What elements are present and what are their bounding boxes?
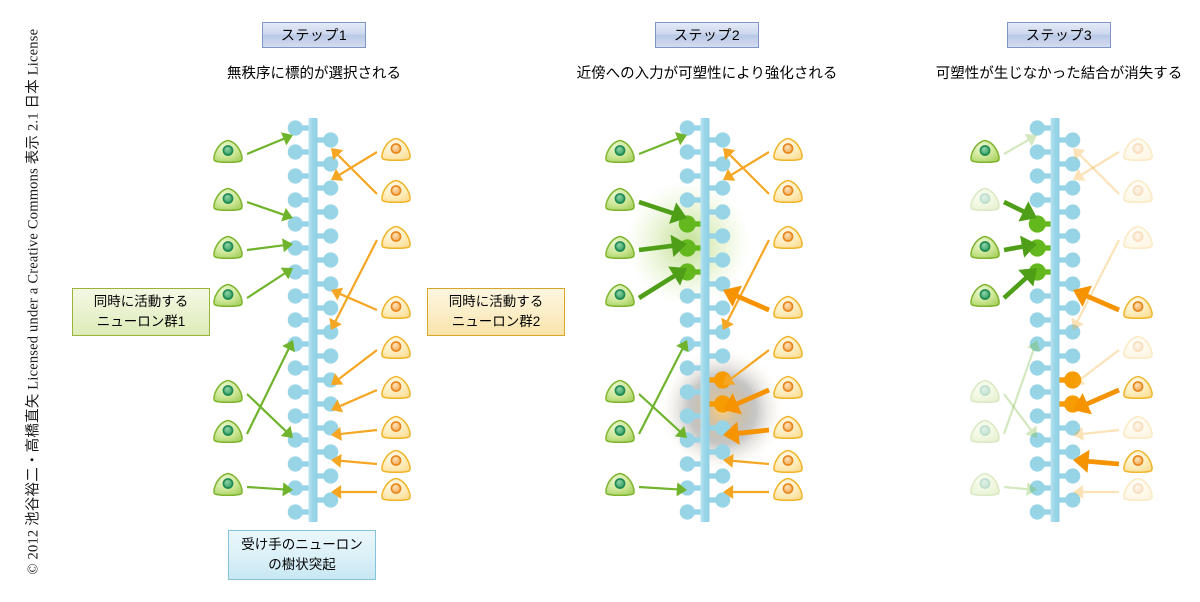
neuron-nucleus: [1133, 302, 1142, 311]
neuron-nucleus: [1133, 422, 1142, 431]
spine-head: [288, 288, 303, 303]
spine-head: [1030, 312, 1045, 327]
spine-head: [288, 192, 303, 207]
neuron-cell-icon: [606, 420, 634, 442]
dendritic-spine-icon: [318, 132, 339, 147]
neuron-cell-icon: [1124, 226, 1152, 248]
spine-head: [323, 204, 338, 219]
neuron-nucleus: [1133, 484, 1142, 493]
dendritic-spine-icon: [1060, 204, 1081, 219]
neuron-cell-icon: [1124, 416, 1152, 438]
spine-head: [680, 408, 695, 423]
spine-head: [288, 504, 303, 519]
arrow-shaft: [247, 348, 289, 434]
spine-head: [680, 288, 695, 303]
dendritic-spine-icon: [680, 120, 701, 135]
arrow-shaft: [1004, 246, 1023, 250]
arrow-shaft: [340, 461, 377, 464]
dendritic-spine-icon: [288, 312, 309, 327]
neuron-nucleus: [615, 386, 624, 395]
arrow-shaft: [1004, 277, 1027, 298]
panel-panel3: [971, 118, 1152, 522]
dendritic-spine-icon: [1060, 348, 1081, 363]
green-synapse-arrow: [247, 268, 293, 298]
dendrite-shaft: [1051, 118, 1060, 522]
dendrite-shaft: [309, 118, 318, 522]
neuron-nucleus: [1133, 382, 1142, 391]
orange-synapse-arrow: [331, 390, 377, 412]
arrow-shaft: [337, 154, 377, 194]
spine-head: [715, 204, 730, 219]
neuron-nucleus: [223, 290, 232, 299]
neuron-cell-icon: [971, 380, 999, 402]
spine-head: [1030, 288, 1045, 303]
spine-head: [1030, 384, 1045, 399]
arrow-shaft: [339, 152, 377, 175]
spine-head: [323, 468, 338, 483]
arrow-shaft: [1004, 202, 1024, 212]
neuron-cell-icon: [1124, 138, 1152, 160]
dendritic-spine-icon: [680, 504, 701, 519]
dendritic-spine-icon: [318, 252, 339, 267]
spine-head: [1065, 180, 1080, 195]
neuron-cell-icon: [971, 188, 999, 210]
dendritic-spine-icon: [288, 360, 309, 375]
neuron-nucleus: [391, 382, 400, 391]
spine-head: [288, 144, 303, 159]
arrow-shaft: [1081, 152, 1119, 175]
dendritic-spine-icon: [710, 300, 731, 315]
spine-head: [323, 252, 338, 267]
neuron-nucleus: [1133, 342, 1142, 351]
green-synapse-arrow: [639, 482, 687, 496]
spine-head: [1065, 300, 1080, 315]
neuron-nucleus: [391, 484, 400, 493]
dendritic-spine-icon: [1030, 120, 1051, 135]
neuron-nucleus: [783, 484, 792, 493]
arrow-shaft: [1004, 487, 1028, 489]
spine-head: [288, 312, 303, 327]
dendritic-spine-icon: [1030, 168, 1051, 183]
neuron-nucleus: [783, 302, 792, 311]
spine-head: [715, 180, 730, 195]
neuron-cell-icon: [774, 296, 802, 318]
spine-head: [1030, 168, 1045, 183]
dendritic-spine-icon: [1030, 288, 1051, 303]
neuron-cell-icon: [606, 284, 634, 306]
neuron-nucleus: [223, 242, 232, 251]
spine-head: [680, 456, 695, 471]
dendritic-spine-icon: [1030, 408, 1051, 423]
spine-head: [323, 180, 338, 195]
neuron-nucleus: [783, 186, 792, 195]
neuron-nucleus: [391, 342, 400, 351]
neuron-cell-icon: [214, 380, 242, 402]
spine-head: [288, 384, 303, 399]
neuron-nucleus: [783, 342, 792, 351]
neuron-nucleus: [615, 426, 624, 435]
neuron-cell-icon: [382, 376, 410, 398]
neuron-cell-icon: [214, 140, 242, 162]
spine-head: [1065, 348, 1080, 363]
dendritic-spine-icon: [1060, 444, 1081, 459]
spine-head: [680, 384, 695, 399]
neuron-nucleus: [615, 242, 624, 251]
arrow-shaft: [338, 350, 377, 380]
dendritic-spine-icon: [318, 444, 339, 459]
neuron-nucleus: [980, 426, 989, 435]
neuron-nucleus: [1133, 232, 1142, 241]
arrow-shaft: [1079, 154, 1119, 194]
dendritic-spine-icon: [288, 216, 309, 231]
orange-synapse-arrow: [1073, 427, 1119, 441]
arrow-shaft: [1004, 348, 1034, 434]
arrow-shaft: [335, 240, 377, 322]
spine-head: [680, 192, 695, 207]
arrow-shaft: [247, 273, 286, 298]
arrow-shaft: [737, 430, 769, 433]
dendritic-spine-icon: [318, 204, 339, 219]
spine-head: [1030, 360, 1045, 375]
dendritic-spine-icon: [288, 480, 309, 495]
spine-head: [715, 132, 730, 147]
dendritic-spine-icon: [680, 168, 701, 183]
dendritic-spine-icon: [288, 144, 309, 159]
neuron-cell-icon: [774, 450, 802, 472]
dendritic-spine-icon: [1060, 468, 1081, 483]
neuron-nucleus: [1133, 456, 1142, 465]
neuron-nucleus: [223, 386, 232, 395]
spine-head: [1030, 144, 1045, 159]
dendritic-spine-icon: [318, 228, 339, 243]
arrow-shaft: [1082, 430, 1119, 434]
neuron-cell-icon: [774, 376, 802, 398]
spine-head: [288, 456, 303, 471]
neuron-cell-icon: [382, 138, 410, 160]
neuron-nucleus: [391, 144, 400, 153]
neuron-cell-icon: [971, 473, 999, 495]
dendritic-spine-icon: [1060, 132, 1081, 147]
neuron-cell-icon: [774, 180, 802, 202]
arrow-shaft: [1086, 296, 1119, 310]
spine-head: [680, 312, 695, 327]
arrow-shaft: [247, 202, 285, 215]
neuron-cell-icon: [1124, 450, 1152, 472]
neuron-nucleus: [783, 422, 792, 431]
arrow-shaft: [1080, 350, 1119, 380]
dendritic-spine-icon: [1060, 156, 1081, 171]
neuron-nucleus: [223, 426, 232, 435]
spine-head: [1065, 204, 1080, 219]
neuron-nucleus: [615, 146, 624, 155]
arrow-shaft: [247, 394, 287, 432]
neuron-nucleus: [615, 290, 624, 299]
arrow-shaft: [639, 487, 678, 489]
spine-head: [715, 300, 730, 315]
dendritic-spine-icon: [318, 300, 339, 315]
spine-head: [1030, 504, 1045, 519]
neuron-cell-icon: [382, 416, 410, 438]
spine-head: [1065, 228, 1080, 243]
neuron-cell-icon: [382, 336, 410, 358]
green-synapse-arrow: [247, 482, 293, 496]
neuron-cell-icon: [971, 236, 999, 258]
spine-head: [680, 504, 695, 519]
neuron-cell-icon: [774, 138, 802, 160]
neuron-cell-icon: [971, 284, 999, 306]
arrow-shaft: [1086, 390, 1119, 404]
neuron-nucleus: [391, 456, 400, 465]
neuron-cell-icon: [382, 450, 410, 472]
neuron-cell-icon: [774, 478, 802, 500]
neuron-cell-icon: [214, 188, 242, 210]
spine-head: [680, 360, 695, 375]
dendritic-spine-icon: [1060, 180, 1081, 195]
neuron-nucleus: [615, 194, 624, 203]
arrow-shaft: [729, 154, 769, 194]
orange-synapse-arrow: [331, 485, 377, 499]
neuron-cell-icon: [971, 420, 999, 442]
arrow-shaft: [736, 296, 769, 310]
dendritic-spine-icon: [1030, 384, 1051, 399]
spine-head: [680, 144, 695, 159]
neuron-nucleus: [223, 146, 232, 155]
dendritic-spine-icon: [318, 348, 339, 363]
neuron-cell-icon: [214, 420, 242, 442]
neuron-nucleus: [980, 290, 989, 299]
dendritic-spine-icon: [288, 384, 309, 399]
neuron-nucleus: [980, 194, 989, 203]
dendritic-spine-icon: [1030, 360, 1051, 375]
neuron-cell-icon: [214, 236, 242, 258]
neuron-cell-icon: [1124, 180, 1152, 202]
spine-head: [1065, 252, 1080, 267]
dendritic-spine-icon: [288, 456, 309, 471]
neuron-nucleus: [1133, 144, 1142, 153]
dendritic-spine-icon: [318, 468, 339, 483]
green-synapse-arrow: [247, 394, 293, 438]
orange-synapse-arrow: [331, 454, 377, 468]
orange-synapse-arrow: [1073, 485, 1119, 499]
neuron-nucleus: [980, 479, 989, 488]
neuron-cell-icon: [606, 188, 634, 210]
panel-panel1: [214, 118, 410, 522]
neuron-cell-icon: [382, 226, 410, 248]
green-synapse-arrow: [247, 132, 293, 154]
dendritic-spine-icon: [1030, 456, 1051, 471]
spine-head: [1065, 468, 1080, 483]
neuron-cell-icon: [971, 140, 999, 162]
neuron-nucleus: [391, 186, 400, 195]
dendritic-spine-icon: [1060, 228, 1081, 243]
neuron-cell-icon: [774, 226, 802, 248]
dendritic-spine-icon: [318, 156, 339, 171]
dendritic-spine-icon: [318, 180, 339, 195]
spine-head: [680, 168, 695, 183]
green-synapse-arrow: [247, 202, 293, 221]
dendritic-spine-icon: [288, 192, 309, 207]
spine-head: [323, 348, 338, 363]
arrow-shaft: [1004, 139, 1029, 154]
dendritic-spine-icon: [1030, 312, 1051, 327]
neuron-nucleus: [223, 479, 232, 488]
dendritic-spine-icon: [288, 504, 309, 519]
orange-synapse-arrow: [723, 485, 769, 499]
spine-head: [288, 168, 303, 183]
neuron-cell-icon: [1124, 478, 1152, 500]
spine-head: [323, 132, 338, 147]
dendritic-spine-icon: [710, 132, 731, 147]
neuron-nucleus: [783, 144, 792, 153]
neuron-cell-icon: [1124, 296, 1152, 318]
spine-head: [715, 468, 730, 483]
neuron-nucleus: [223, 194, 232, 203]
spine-head: [1030, 408, 1045, 423]
orange-synapse-arrow: [1073, 390, 1119, 414]
neuron-diagram-svg: [0, 0, 1200, 602]
neuron-nucleus: [615, 479, 624, 488]
dendritic-spine-icon: [288, 240, 309, 255]
arrow-shaft: [340, 430, 377, 434]
spine-head: [1030, 456, 1045, 471]
spine-head: [715, 252, 730, 267]
arrow-shaft: [731, 152, 769, 175]
dendritic-spine-icon: [1060, 252, 1081, 267]
dendritic-spine-icon: [288, 168, 309, 183]
dendritic-spine-icon: [710, 156, 731, 171]
neuron-nucleus: [980, 386, 989, 395]
spine-head: [288, 120, 303, 135]
neuron-cell-icon: [382, 478, 410, 500]
dendritic-spine-icon: [1030, 504, 1051, 519]
spine-head: [288, 408, 303, 423]
green-synapse-arrow: [639, 132, 687, 154]
spine-head: [715, 348, 730, 363]
neuron-cell-icon: [606, 380, 634, 402]
neuron-cell-icon: [606, 140, 634, 162]
dendritic-spine-icon: [1060, 300, 1081, 315]
neuron-nucleus: [980, 146, 989, 155]
green-synapse-arrow: [247, 340, 295, 434]
neuron-cell-icon: [382, 180, 410, 202]
spine-head: [680, 120, 695, 135]
green-synapse-arrow: [247, 238, 293, 252]
arrow-shaft: [247, 138, 285, 154]
neuron-nucleus: [783, 456, 792, 465]
spine-head: [288, 360, 303, 375]
arrow-shaft: [639, 138, 679, 154]
neuron-cell-icon: [214, 284, 242, 306]
dendritic-spine-icon: [1030, 192, 1051, 207]
neuron-cell-icon: [382, 296, 410, 318]
dendritic-spine-icon: [288, 408, 309, 423]
dendritic-spine-icon: [1030, 144, 1051, 159]
dendritic-spine-icon: [680, 144, 701, 159]
arrow-shaft: [247, 245, 284, 250]
spine-head: [1030, 120, 1045, 135]
spine-head: [323, 300, 338, 315]
dendritic-spine-icon: [288, 288, 309, 303]
neuron-cell-icon: [774, 336, 802, 358]
panel-panel2: [606, 118, 802, 522]
neuron-nucleus: [783, 382, 792, 391]
dendrite-shaft: [701, 118, 710, 522]
spine-head: [715, 228, 730, 243]
spine-head: [1065, 132, 1080, 147]
neuron-cell-icon: [606, 473, 634, 495]
neuron-cell-icon: [1124, 376, 1152, 398]
neuron-nucleus: [391, 422, 400, 431]
neuron-nucleus: [391, 232, 400, 241]
arrow-shaft: [339, 390, 377, 406]
spine-head: [323, 228, 338, 243]
orange-synapse-arrow: [331, 427, 377, 441]
neuron-nucleus: [980, 242, 989, 251]
diagram-canvas: © 2012 池谷裕二・高橋直矢 Licensed under a Creati…: [0, 0, 1200, 602]
arrow-shaft: [1087, 461, 1119, 464]
neuron-nucleus: [391, 302, 400, 311]
neuron-cell-icon: [1124, 336, 1152, 358]
arrow-shaft: [247, 487, 284, 489]
dendritic-spine-icon: [680, 312, 701, 327]
neuron-nucleus: [783, 232, 792, 241]
neuron-cell-icon: [214, 473, 242, 495]
neuron-nucleus: [1133, 186, 1142, 195]
dendritic-spine-icon: [288, 120, 309, 135]
spine-head: [1030, 192, 1045, 207]
